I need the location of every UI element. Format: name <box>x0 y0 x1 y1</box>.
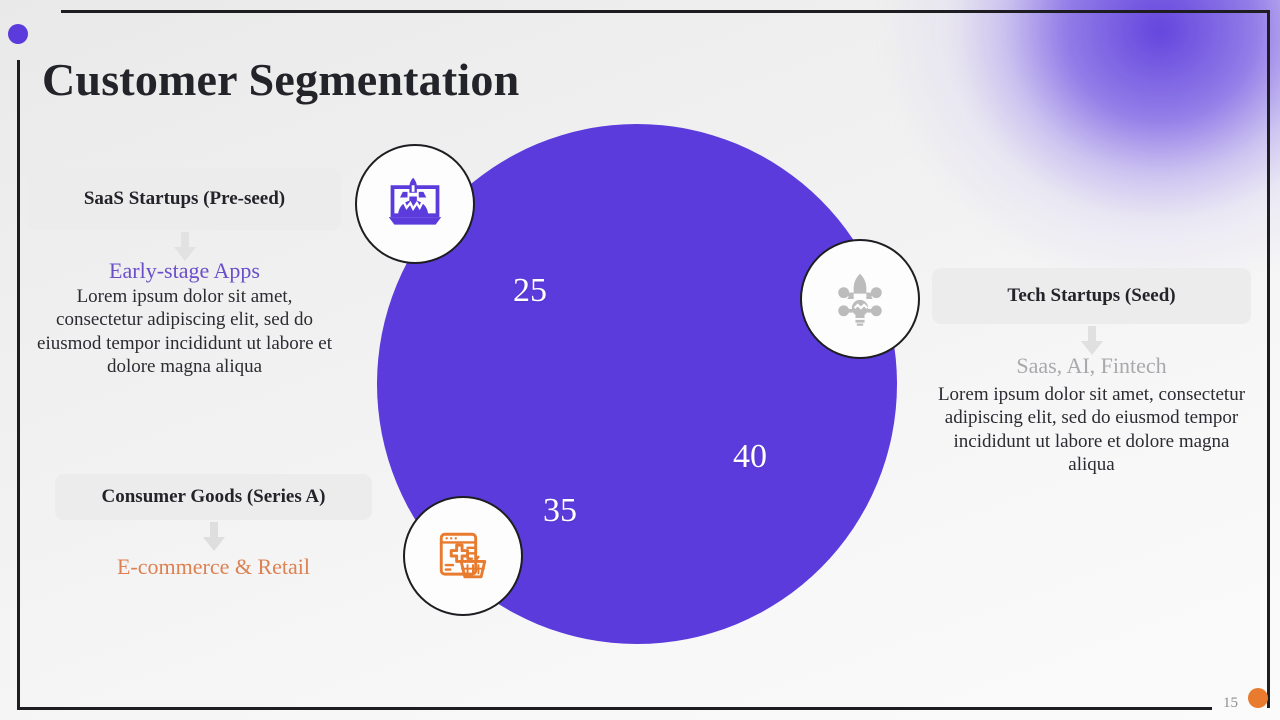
frame-line-bottom <box>17 707 1212 710</box>
page-number: 15 <box>1223 695 1238 712</box>
frame-line-left <box>17 60 20 708</box>
shopping-basket-icon <box>434 527 492 585</box>
laptop-rocket-icon <box>385 174 445 234</box>
label-chip-goods[interactable]: Consumer Goods (Series A) <box>55 474 372 520</box>
arrow-down-icon-tech <box>1078 326 1106 356</box>
body-text-saas: Lorem ipsum dolor sit amet, consectetur … <box>32 285 337 378</box>
sub-head-tech: Saas, AI, Fintech <box>932 353 1251 379</box>
pie-slice-value-goods: 35 <box>543 494 577 528</box>
label-chip-saas[interactable]: SaaS Startups (Pre-seed) <box>28 168 341 230</box>
body-text-tech: Lorem ipsum dolor sit amet, consectetur … <box>936 383 1247 476</box>
decorative-dot-top-left <box>8 24 28 44</box>
pie-slice-value-saas: 25 <box>513 274 547 308</box>
sub-head-goods: E-commerce & Retail <box>55 554 372 580</box>
sub-head-saas: Early-stage Apps <box>28 258 341 284</box>
purple-glow-decoration <box>880 0 1280 290</box>
rocket-network-icon <box>831 270 889 328</box>
icon-bubble-saas[interactable] <box>355 144 475 264</box>
decorative-dot-bottom-right <box>1248 688 1268 708</box>
page-title: Customer Segmentation <box>42 53 519 106</box>
pie-slice-value-tech: 40 <box>733 440 767 474</box>
frame-line-right <box>1267 10 1270 708</box>
label-chip-tech[interactable]: Tech Startups (Seed) <box>932 268 1251 324</box>
frame-line-top <box>61 10 1269 13</box>
icon-bubble-tech[interactable] <box>800 239 920 359</box>
arrow-down-icon-goods <box>200 522 228 552</box>
slide-canvas: Customer Segmentation 25 40 35 <box>0 0 1280 720</box>
icon-bubble-goods[interactable] <box>403 496 523 616</box>
